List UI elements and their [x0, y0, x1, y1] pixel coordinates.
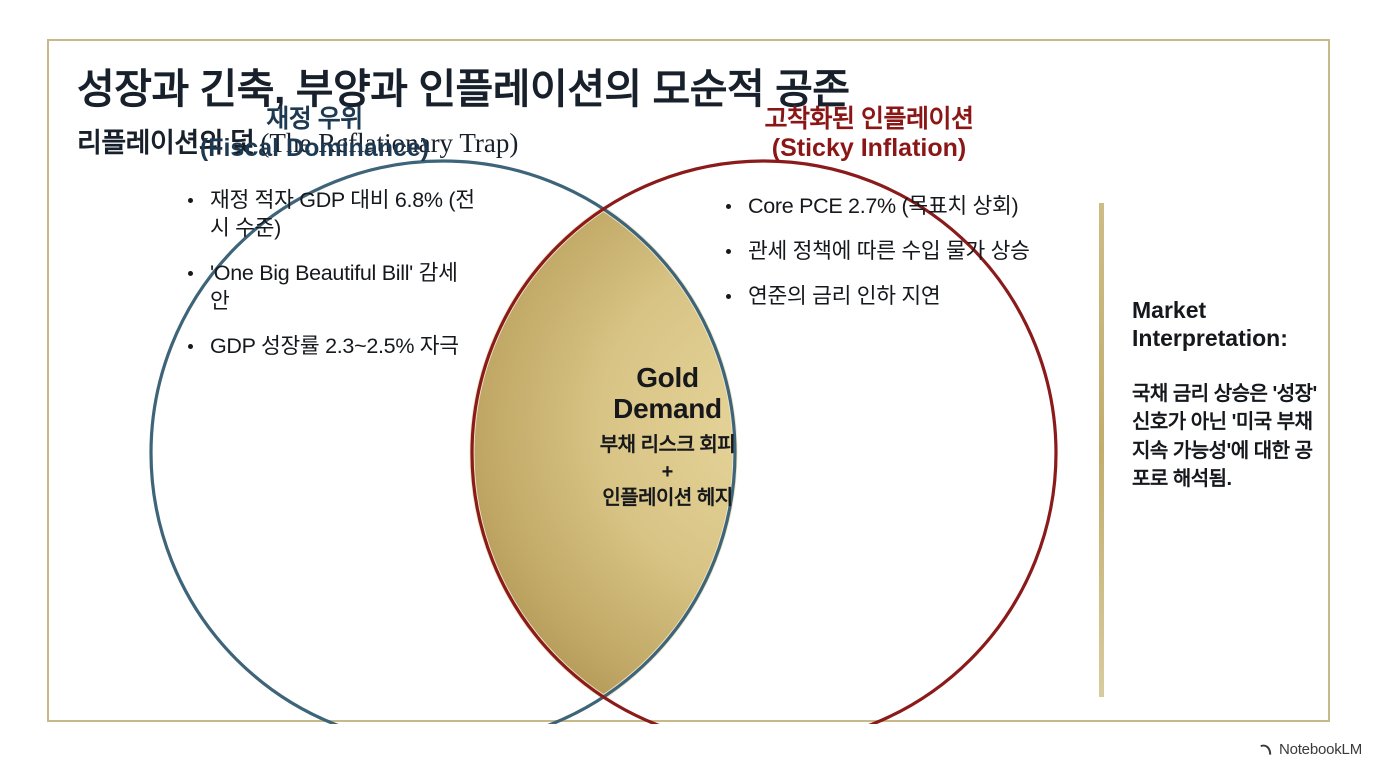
list-item: 연준의 금리 인하 지연	[714, 283, 1034, 311]
list-item: 관세 정책에 따른 수입 물가 상승	[714, 238, 1034, 266]
bullet-dot-icon	[188, 271, 193, 276]
slide-frame: 성장과 긴축, 부양과 인플레이션의 모순적 공존 리플레이션의 덫(The R…	[47, 39, 1330, 722]
watermark-label: NotebookLM	[1279, 741, 1362, 758]
bullet-dot-icon	[726, 294, 731, 299]
list-item: 재정 적자 GDP 대비 6.8% (전시 수준)	[176, 187, 477, 243]
right-circle-title-ko: 고착화된 인플레이션	[704, 105, 1034, 134]
left-circle-title-ko: 재정 우위	[152, 105, 477, 134]
left-circle-bullet-list: 재정 적자 GDP 대비 6.8% (전시 수준) 'One Big Beaut…	[176, 187, 477, 361]
sidebar-body-text: 국채 금리 상승은 '성장' 신호가 아닌 '미국 부채 지속 가능성'에 대한…	[1132, 380, 1317, 494]
list-item-text: 'One Big Beautiful Bill' 감세안	[210, 261, 458, 313]
list-item: GDP 성장률 2.3~2.5% 자극	[176, 333, 477, 361]
right-circle-bullet-list: Core PCE 2.7% (목표치 상회) 관세 정책에 따른 수입 물가 상…	[714, 193, 1034, 311]
intersection-heading-line2: Demand	[571, 394, 764, 425]
intersection-heading: Gold Demand	[571, 363, 764, 425]
venn-intersection-content: Gold Demand 부채 리스크 회피 + 인플레이션 헤지	[571, 363, 764, 513]
left-circle-title-en: (Fiscal Dominance)	[152, 134, 477, 163]
bullet-dot-icon	[726, 249, 731, 254]
intersection-sub-line2: 인플레이션 헤지	[571, 485, 764, 513]
intersection-heading-line1: Gold	[571, 363, 764, 394]
sidebar-heading-line1: Market	[1132, 296, 1317, 324]
intersection-sub-line1: 부채 리스크 회피	[571, 432, 764, 460]
sidebar-heading: Market Interpretation:	[1132, 296, 1317, 352]
venn-left-content: 재정 우위 (Fiscal Dominance) 재정 적자 GDP 대비 6.…	[152, 105, 477, 378]
list-item: Core PCE 2.7% (목표치 상회)	[714, 193, 1034, 221]
list-item-text: GDP 성장률 2.3~2.5% 자극	[210, 334, 459, 358]
list-item-text: 재정 적자 GDP 대비 6.8% (전시 수준)	[210, 188, 475, 240]
intersection-plus-symbol: +	[571, 459, 764, 485]
list-item-text: 관세 정책에 따른 수입 물가 상승	[748, 239, 1030, 263]
notebooklm-watermark: NotebookLM	[1258, 741, 1362, 758]
bullet-dot-icon	[188, 344, 193, 349]
left-circle-title: 재정 우위 (Fiscal Dominance)	[152, 105, 477, 163]
list-item: 'One Big Beautiful Bill' 감세안	[176, 260, 477, 316]
right-circle-title: 고착화된 인플레이션 (Sticky Inflation)	[704, 105, 1034, 163]
sidebar-heading-line2: Interpretation:	[1132, 324, 1317, 352]
sidebar-divider	[1099, 203, 1104, 697]
list-item-text: Core PCE 2.7% (목표치 상회)	[748, 194, 1018, 218]
right-circle-title-en: (Sticky Inflation)	[704, 134, 1034, 163]
notebooklm-arc-icon	[1258, 742, 1274, 758]
list-item-text: 연준의 금리 인하 지연	[748, 284, 940, 308]
slide-canvas: 성장과 긴축, 부양과 인플레이션의 모순적 공존 리플레이션의 덫(The R…	[0, 0, 1376, 768]
market-interpretation-panel: Market Interpretation: 국채 금리 상승은 '성장' 신호…	[1132, 296, 1317, 494]
bullet-dot-icon	[188, 198, 193, 203]
venn-right-content: 고착화된 인플레이션 (Sticky Inflation) Core PCE 2…	[704, 105, 1034, 328]
bullet-dot-icon	[726, 204, 731, 209]
